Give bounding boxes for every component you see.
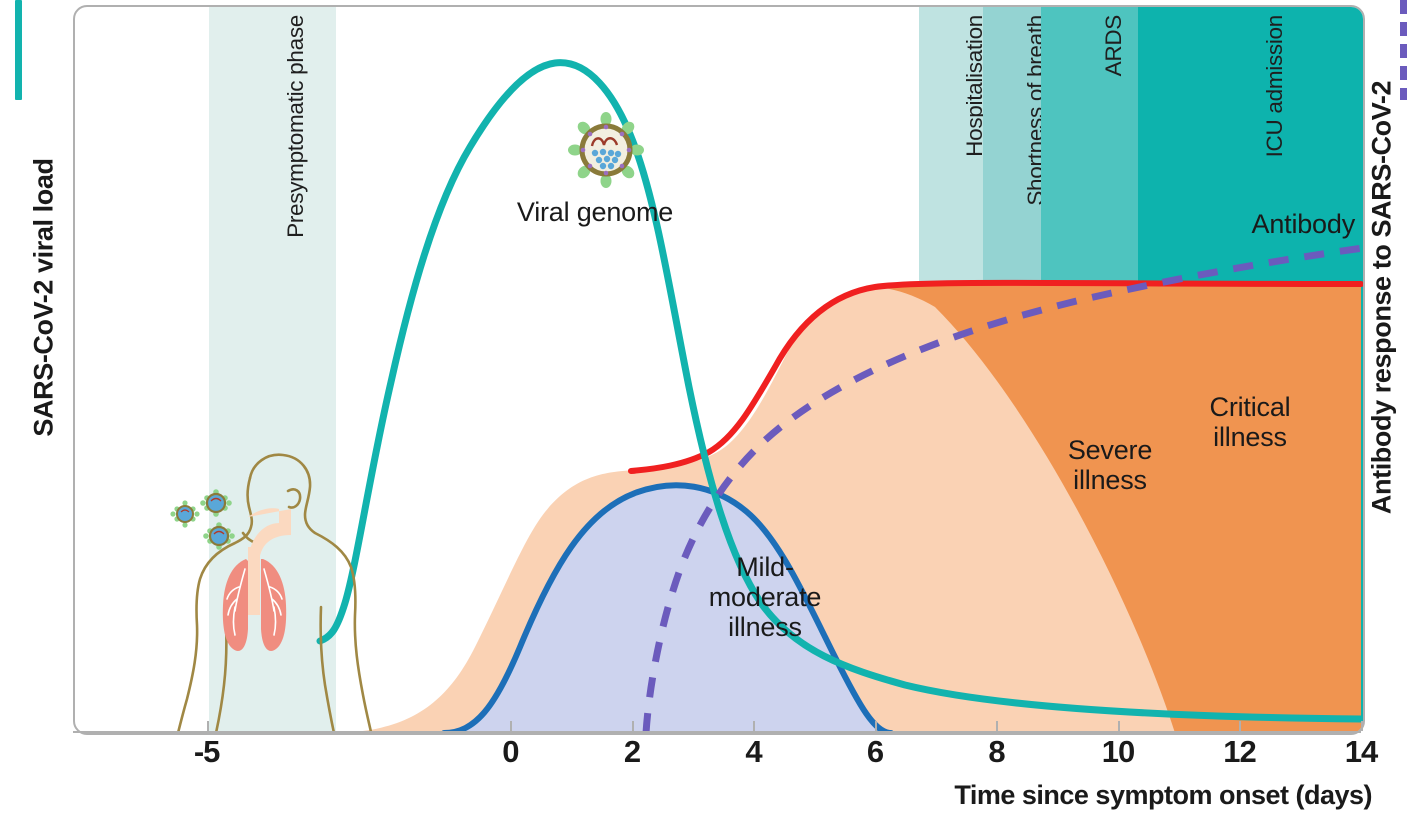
x-tick [207,721,209,731]
y-axis-right-label: Antibody response to SARS-CoV-2 [1367,18,1398,578]
virus-particle [170,500,199,527]
x-tick [753,721,755,731]
mild-moderate-illness-label-line2: moderate [655,582,875,612]
x-tick [510,721,512,731]
trachea-shape [248,547,260,615]
y-axis-left-label: SARS-CoV-2 viral load [29,18,60,578]
x-tick-label: 6 [840,734,910,770]
virus-particle [203,522,235,550]
x-tick [1361,721,1363,731]
virus-particle [200,489,232,517]
x-tick-label: -5 [172,734,242,770]
critical-illness-label-line2: illness [1155,422,1345,452]
mild-moderate-illness-label: Mild- moderate illness [655,552,875,643]
x-tick-label: 12 [1204,734,1274,770]
x-tick-label: 14 [1326,734,1396,770]
critical-illness-label: Critical illness [1155,392,1345,452]
x-axis-line [73,731,1361,733]
virus-particles-icon [163,485,243,555]
x-tick-label: 2 [597,734,667,770]
x-axis-label: Time since symptom onset (days) [0,780,1372,811]
x-tick [1118,721,1120,731]
x-tick [1239,721,1241,731]
mild-moderate-illness-label-line1: Mild- [655,552,875,582]
x-tick [875,721,877,731]
viral-load-legend-stroke [15,0,22,100]
antibody-label: Antibody [1155,209,1355,239]
figure-root: SARS-CoV-2 viral load Antibody response … [0,0,1425,824]
x-tick [996,721,998,731]
x-tick-label: 8 [961,734,1031,770]
x-tick [632,721,634,731]
critical-illness-label-line1: Critical [1155,392,1345,422]
x-tick-label: 10 [1083,734,1153,770]
x-tick-label: 4 [718,734,788,770]
viral-genome-particle-icon [568,112,644,188]
plot-inner: Presymptomatic phaseHospitalisationShort… [75,7,1363,733]
plot-frame: Presymptomatic phaseHospitalisationShort… [73,5,1365,735]
antibody-legend-stroke [1400,0,1407,100]
mild-moderate-illness-label-line3: illness [655,612,875,642]
severe-illness-label-line2: illness [1015,465,1205,495]
viral-genome-label: Viral genome [470,197,720,227]
x-tick-label: 0 [475,734,545,770]
